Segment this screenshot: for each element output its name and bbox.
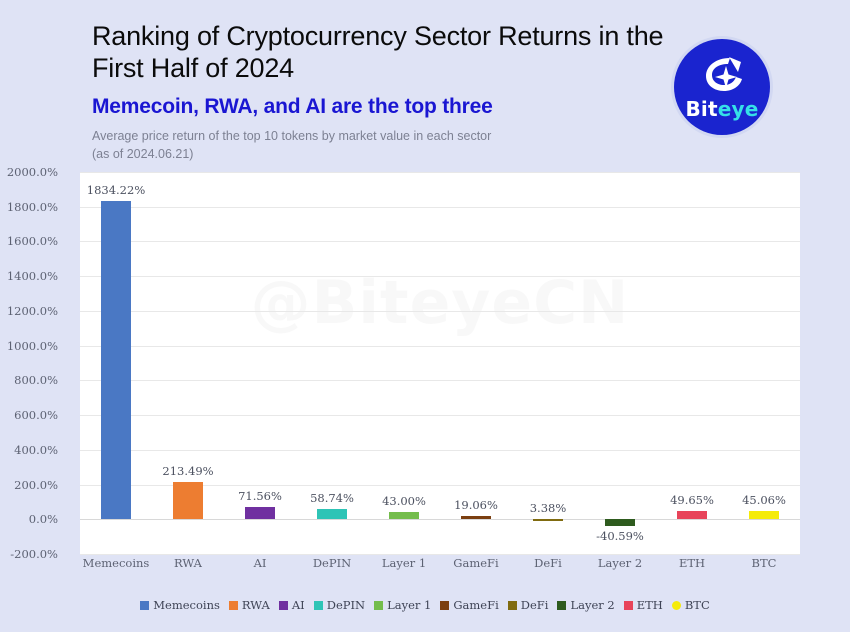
legend-label: Memecoins: [153, 598, 220, 612]
legend-swatch-icon: [508, 601, 517, 610]
y-axis-tick-label: 400.0%: [0, 443, 58, 457]
bar-value-label: 1834.22%: [87, 183, 145, 197]
bar-column[interactable]: 3.38%: [512, 172, 584, 554]
legend-item[interactable]: GameFi: [440, 598, 498, 612]
legend-swatch-icon: [624, 601, 633, 610]
bar-column[interactable]: 49.65%: [656, 172, 728, 554]
bar-column[interactable]: 58.74%: [296, 172, 368, 554]
bar-value-label: 3.38%: [530, 501, 567, 515]
gridline: [80, 554, 800, 555]
x-axis: MemecoinsRWAAIDePINLayer 1GameFiDeFiLaye…: [80, 556, 800, 580]
y-axis-tick-label: 0.0%: [0, 512, 58, 526]
y-axis-tick-label: 1400.0%: [0, 269, 58, 283]
x-axis-tick-label: Layer 1: [382, 556, 426, 570]
legend-label: DePIN: [327, 598, 365, 612]
legend-swatch-icon: [229, 601, 238, 610]
legend-item[interactable]: DePIN: [314, 598, 365, 612]
chart-plot-area: @BiteyeCN 1834.22%213.49%71.56%58.74%43.…: [80, 172, 800, 554]
bar[interactable]: [533, 519, 563, 521]
y-axis-tick-label: 1600.0%: [0, 234, 58, 248]
y-axis-tick-label: 200.0%: [0, 478, 58, 492]
bar-value-label: 71.56%: [238, 489, 282, 503]
bar[interactable]: [461, 516, 491, 519]
bar[interactable]: [245, 507, 275, 519]
legend-swatch-icon: [440, 601, 449, 610]
bar-value-label: 19.06%: [454, 498, 498, 512]
x-axis-tick-label: Memecoins: [83, 556, 150, 570]
x-axis-tick-label: AI: [254, 556, 267, 570]
logo-wordmark: Biteye: [674, 97, 770, 121]
x-axis-tick-label: GameFi: [453, 556, 498, 570]
bar-value-label: -40.59%: [596, 529, 644, 543]
y-axis-tick-label: -200.0%: [0, 547, 58, 561]
legend-item[interactable]: Memecoins: [140, 598, 220, 612]
chart-header: Ranking of Cryptocurrency Sector Returns…: [0, 0, 850, 172]
bar[interactable]: [317, 509, 347, 519]
logo-text-primary: Bit: [685, 97, 717, 121]
biteye-logo: Biteye: [674, 39, 770, 135]
bar-value-label: 49.65%: [670, 493, 714, 507]
x-axis-tick-label: DeFi: [534, 556, 562, 570]
legend-item[interactable]: ETH: [624, 598, 663, 612]
x-axis-tick-label: Layer 2: [598, 556, 642, 570]
logo-text-accent: eye: [718, 97, 759, 121]
bar-value-label: 213.49%: [162, 464, 213, 478]
bar-column[interactable]: 45.06%: [728, 172, 800, 554]
title-block: Ranking of Cryptocurrency Sector Returns…: [92, 20, 672, 163]
bar-column[interactable]: 19.06%: [440, 172, 512, 554]
bar[interactable]: [749, 511, 779, 519]
bar-column[interactable]: 1834.22%: [80, 172, 152, 554]
chart-note: Average price return of the top 10 token…: [92, 127, 672, 163]
y-axis-tick-label: 1000.0%: [0, 339, 58, 353]
legend-label: AI: [292, 598, 305, 612]
legend-item[interactable]: AI: [279, 598, 305, 612]
legend-label: ETH: [637, 598, 663, 612]
y-axis-tick-label: 800.0%: [0, 373, 58, 387]
chart-legend: MemecoinsRWAAIDePINLayer 1GameFiDeFiLaye…: [0, 598, 850, 612]
bar-column[interactable]: 43.00%: [368, 172, 440, 554]
bar-column[interactable]: 71.56%: [224, 172, 296, 554]
x-axis-tick-label: RWA: [174, 556, 202, 570]
x-axis-tick-label: ETH: [679, 556, 705, 570]
legend-label: BTC: [685, 598, 710, 612]
bar[interactable]: [605, 519, 635, 526]
bar[interactable]: [173, 482, 203, 519]
legend-label: Layer 1: [387, 598, 431, 612]
page-title: Ranking of Cryptocurrency Sector Returns…: [92, 20, 672, 84]
legend-swatch-icon: [314, 601, 323, 610]
y-axis-tick-label: 600.0%: [0, 408, 58, 422]
legend-label: Layer 2: [570, 598, 614, 612]
bar-value-label: 43.00%: [382, 494, 426, 508]
legend-item[interactable]: DeFi: [508, 598, 549, 612]
y-axis-tick-label: 1200.0%: [0, 304, 58, 318]
bar-value-label: 58.74%: [310, 491, 354, 505]
legend-label: GameFi: [453, 598, 498, 612]
legend-item[interactable]: BTC: [672, 598, 710, 612]
legend-item[interactable]: Layer 2: [557, 598, 614, 612]
y-axis-tick-label: 1800.0%: [0, 200, 58, 214]
bar-value-label: 45.06%: [742, 493, 786, 507]
legend-swatch-icon: [672, 601, 681, 610]
legend-swatch-icon: [140, 601, 149, 610]
legend-item[interactable]: RWA: [229, 598, 270, 612]
y-axis-tick-label: 2000.0%: [0, 165, 58, 179]
legend-swatch-icon: [279, 601, 288, 610]
biteye-crescent-icon: [696, 56, 748, 99]
bar[interactable]: [677, 511, 707, 520]
legend-swatch-icon: [557, 601, 566, 610]
chart-note-line-2: (as of 2024.06.21): [92, 147, 193, 161]
bar[interactable]: [101, 201, 131, 519]
legend-label: DeFi: [521, 598, 549, 612]
x-axis-tick-label: DePIN: [313, 556, 351, 570]
chart-note-line-1: Average price return of the top 10 token…: [92, 129, 491, 143]
x-axis-tick-label: BTC: [752, 556, 777, 570]
bar-column[interactable]: 213.49%: [152, 172, 224, 554]
legend-label: RWA: [242, 598, 270, 612]
bar[interactable]: [389, 512, 419, 519]
chart-subtitle: Memecoin, RWA, and AI are the top three: [92, 94, 672, 120]
legend-item[interactable]: Layer 1: [374, 598, 431, 612]
legend-swatch-icon: [374, 601, 383, 610]
bar-column[interactable]: -40.59%: [584, 172, 656, 554]
